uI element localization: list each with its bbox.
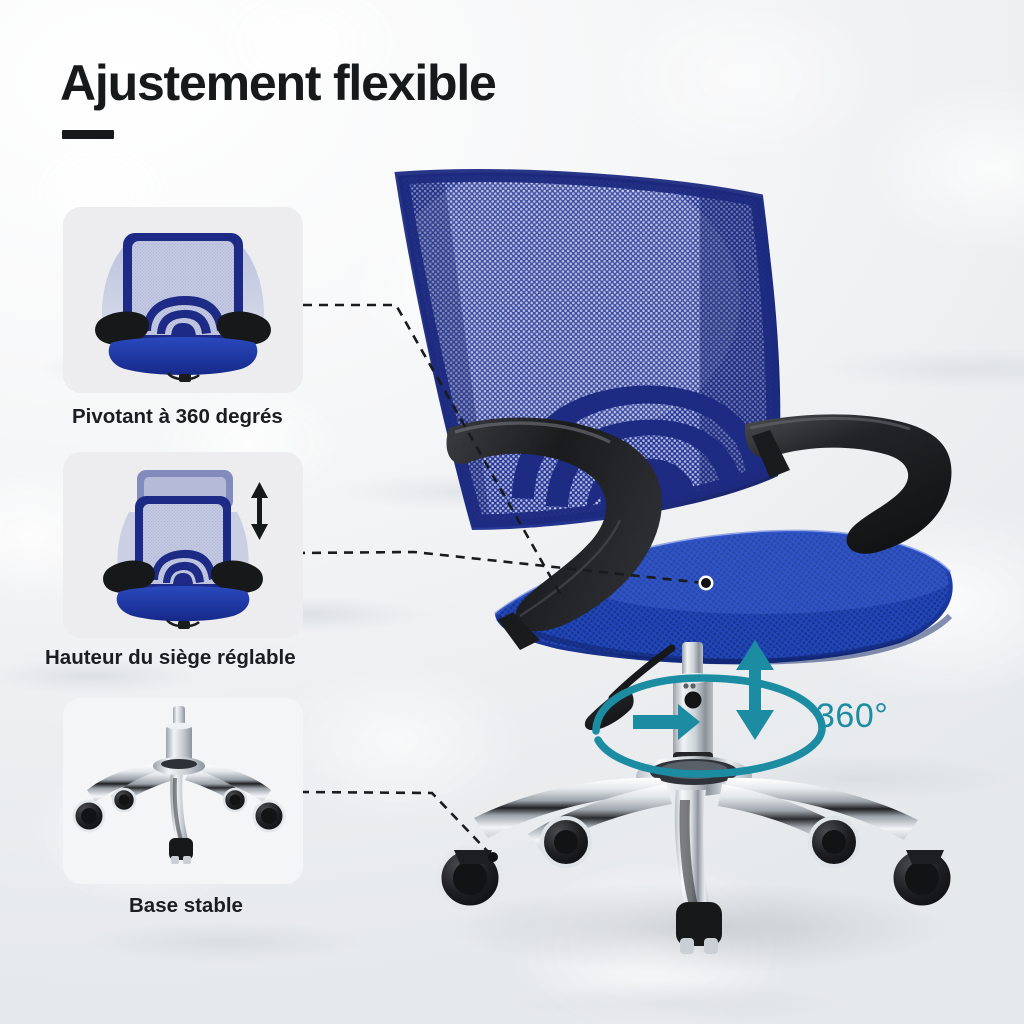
chair-front-view-thumbnail — [63, 207, 303, 393]
infographic-canvas: Ajustement flexible — [0, 0, 1024, 1024]
chair-seat-height-thumbnail — [63, 452, 303, 638]
feature-label-swivel: Pivotant à 360 degrés — [63, 407, 292, 428]
feature-label-seat-height: Hauteur du siège réglable — [36, 648, 305, 669]
thumbnail-card-base[interactable] — [63, 698, 303, 884]
title-underline-rule — [62, 130, 114, 139]
chrome-five-star-base-thumbnail — [63, 698, 303, 884]
page-title: Ajustement flexible — [60, 54, 496, 112]
rotation-degree-label: 360° — [816, 697, 888, 736]
thumbnail-card-swivel[interactable] — [63, 207, 303, 393]
thumbnail-card-seat-height[interactable] — [63, 452, 303, 638]
feature-label-base: Base stable — [120, 896, 252, 917]
